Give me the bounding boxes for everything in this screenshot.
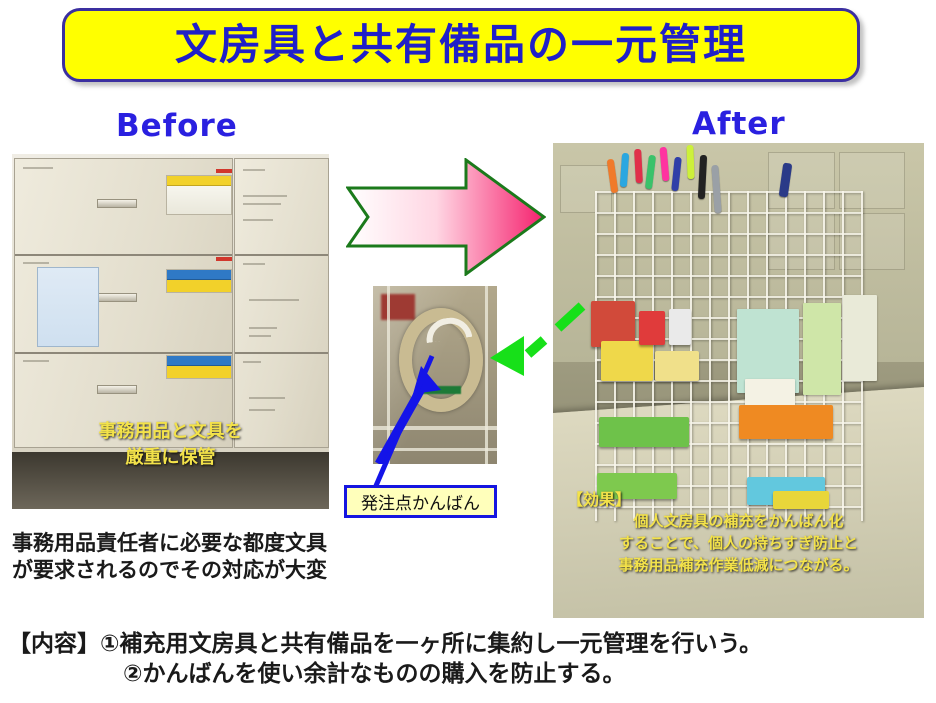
after-heading: After: [692, 106, 786, 142]
before-photo-caption: 事務用品と文具を 厳重に保管: [12, 419, 329, 471]
cabinet-divider: [15, 352, 232, 354]
before-note-line2: が要求されるのでその対応が大変: [12, 558, 327, 582]
hanging-item: [669, 309, 691, 345]
cabinet-divider: [235, 254, 328, 256]
cabinet-column-right: [234, 158, 329, 448]
content-note: 【内容】①補充用文房具と共有備品を一ヶ所に集約し一元管理を行いう。 ②かんばんを…: [8, 630, 762, 690]
kanban-card: [843, 295, 877, 381]
label-body: [167, 366, 231, 379]
after-caption-line1: 個人文房具の補充をかんばん化: [553, 511, 924, 533]
content-item2: ②かんばんを使い余計なものの購入を防止する。: [8, 661, 625, 687]
label-body: [167, 186, 231, 215]
page-title: 文房具と共有備品の一元管理: [175, 24, 747, 66]
cabinet-tick: [249, 409, 275, 411]
before-heading: Before: [116, 108, 238, 144]
kanban-closeup-photo: [373, 286, 497, 464]
cabinet-divider: [15, 254, 232, 256]
label-body: [167, 280, 231, 293]
kanban-card: [803, 303, 841, 395]
cabinet-column-left: [14, 158, 233, 448]
kanban-callout-box[interactable]: 発注点かんばん: [344, 485, 497, 518]
cabinet-tick: [249, 397, 285, 399]
after-photo-caption: 【効果】 個人文房具の補充をかんばん化 することで、個人の持ちすぎ防止と 事務用…: [553, 488, 924, 576]
pen: [686, 145, 694, 179]
label-header-band: [167, 270, 231, 280]
label-header-band: [167, 356, 231, 366]
wire-rack-organizer: [595, 191, 863, 521]
before-to-after-arrow: [346, 158, 546, 276]
before-photo: 事務用品と文具を 厳重に保管: [12, 154, 329, 509]
storage-tray: [739, 405, 833, 439]
cabinet-tick: [23, 262, 49, 264]
before-note-line1: 事務用品責任者に必要な都度文具: [12, 531, 327, 555]
red-marker: [216, 257, 232, 261]
cabinet-tick: [249, 335, 271, 337]
after-photo: 【効果】 個人文房具の補充をかんばん化 することで、個人の持ちすぎ防止と 事務用…: [553, 143, 924, 618]
cabinet-tick: [243, 219, 273, 221]
after-caption-line2: することで、個人の持ちすぎ防止と: [553, 533, 924, 555]
cabinet-tick: [243, 203, 281, 205]
cabinet-divider: [235, 352, 328, 354]
hanging-item: [655, 351, 699, 381]
cabinet-tick: [243, 169, 265, 171]
cabinet-label-blue: [166, 269, 232, 293]
inset-blue-pointer-overlay: [373, 286, 497, 464]
red-marker: [216, 169, 232, 173]
after-caption-heading: 【効果】: [553, 488, 924, 511]
cabinet-label-yellow: [166, 175, 232, 215]
cabinet-tick: [243, 361, 261, 363]
cabinet-handle: [97, 385, 137, 394]
kanban-callout-label: 発注点かんばん: [361, 489, 480, 514]
cabinet-tick: [243, 195, 287, 197]
cabinet-handle: [97, 293, 137, 302]
hanging-item: [601, 341, 653, 381]
before-caption-line2: 厳重に保管: [12, 445, 329, 471]
cabinet-tick: [23, 360, 49, 362]
cabinet-tick: [243, 263, 265, 265]
cabinet-tick: [249, 327, 277, 329]
cabinet-label-blue: [166, 355, 232, 379]
content-label: 【内容】: [8, 631, 100, 657]
label-header-band: [167, 176, 231, 186]
before-caption-line1: 事務用品と文具を: [12, 419, 329, 445]
title-banner: 文房具と共有備品の一元管理: [62, 8, 860, 82]
cabinet-tick: [23, 167, 53, 169]
hanging-item: [639, 311, 665, 345]
content-item1: ①補充用文房具と共有備品を一ヶ所に集約し一元管理を行いう。: [100, 631, 762, 657]
cabinet-tick: [249, 299, 299, 301]
after-caption-line3: 事務用品補充作業低減につながる。: [553, 555, 924, 577]
cabinet-handle: [97, 199, 137, 208]
posted-document: [37, 267, 99, 347]
before-note: 事務用品責任者に必要な都度文具 が要求されるのでその対応が大変: [12, 530, 327, 585]
storage-tray: [599, 417, 689, 447]
